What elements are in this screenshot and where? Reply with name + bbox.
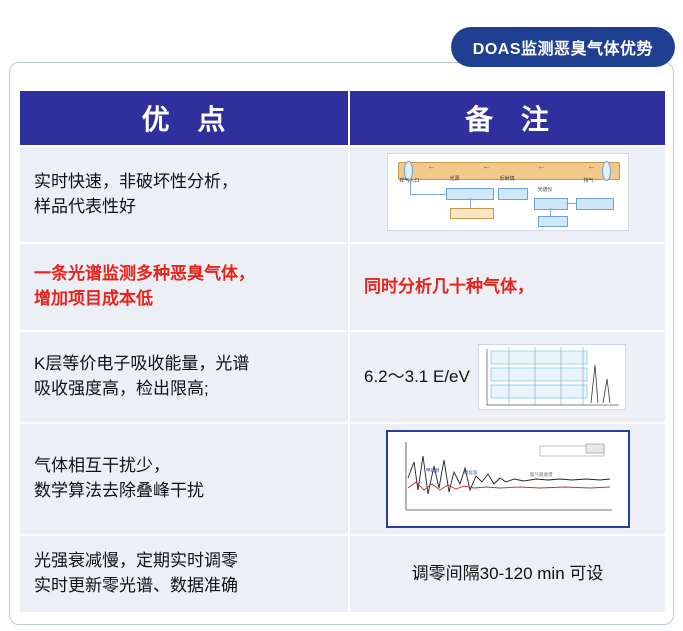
- spectra-traces-svg: [479, 345, 625, 409]
- module-box: [498, 188, 528, 200]
- svg-text:硫化氢: 硫化氢: [464, 469, 478, 476]
- module-box: [576, 198, 614, 210]
- header-advantage: 优 点: [19, 90, 349, 146]
- signal-plot: 甲硫醇 硫化氢 氨气吸收谱: [386, 430, 630, 528]
- connector-line: [566, 203, 576, 204]
- module-box: [538, 216, 568, 227]
- connector-line: [470, 198, 471, 208]
- optics-diagram: ← ← ← ←: [387, 153, 629, 231]
- advantage-text: 实时快速，非破坏性分析，样品代表性好: [34, 172, 238, 216]
- slide-title-text: DOAS监测恶臭气体优势: [473, 35, 653, 59]
- table-row: 光强衰减慢，定期实时调零实时更新零光谱、数据准确 调零间隔30-120 min …: [19, 535, 666, 613]
- table-row: 实时快速，非破坏性分析，样品代表性好 ← ← ← ←: [19, 146, 666, 243]
- header-note: 备 注: [349, 90, 666, 146]
- note-cell: 甲硫醇 硫化氢 氨气吸收谱: [349, 423, 666, 535]
- advantage-text: 气体相互干扰少，数学算法去除叠峰干扰: [34, 456, 204, 500]
- advantage-text: 光强衰减慢，定期实时调零实时更新零光谱、数据准确: [34, 551, 238, 595]
- slide-title-pill: DOAS监测恶臭气体优势: [451, 27, 675, 67]
- note-cell: 同时分析几十种气体，: [349, 243, 666, 331]
- note-cell: 6.2～3.1 E/eV: [349, 331, 666, 423]
- module-box: [534, 198, 568, 210]
- note-text: 6.2～3.1 E/eV: [364, 365, 470, 390]
- advantage-cell: K层等价电子吸收能量，光谱吸收强度高，检出限高;: [19, 331, 349, 423]
- note-cell: ← ← ← ←: [349, 146, 666, 243]
- table-row: 气体相互干扰少，数学算法去除叠峰干扰 甲硫醇: [19, 423, 666, 535]
- advantage-cell: 一条光谱监测多种恶臭气体，增加项目成本低: [19, 243, 349, 331]
- note-cell: 调零间隔30-120 min 可设: [349, 535, 666, 613]
- note-text: 同时分析几十种气体，: [364, 277, 534, 296]
- lens-icon: [602, 161, 611, 181]
- svg-text:甲硫醇: 甲硫醇: [426, 467, 440, 474]
- table-header-row: 优 点 备 注: [19, 90, 666, 146]
- table-row: 一条光谱监测多种恶臭气体，增加项目成本低 同时分析几十种气体，: [19, 243, 666, 331]
- advantage-text: K层等价电子吸收能量，光谱吸收强度高，检出限高;: [34, 354, 249, 398]
- connector-line: [550, 208, 551, 216]
- module-box: [450, 208, 494, 219]
- advantage-text: 一条光谱监测多种恶臭气体，增加项目成本低: [34, 264, 255, 308]
- advantages-table: 优 点 备 注 实时快速，非破坏性分析，样品代表性好 ← ← ← ←: [18, 89, 667, 614]
- signal-plot-svg: 甲硫醇 硫化氢 氨气吸收谱: [390, 432, 626, 522]
- advantage-cell: 气体相互干扰少，数学算法去除叠峰干扰: [19, 423, 349, 535]
- optics-diagram-figure: ← ← ← ←: [387, 218, 629, 235]
- signal-plot-figure: 甲硫醇 硫化氢 氨气吸收谱: [386, 509, 630, 526]
- note-text: 调零间隔30-120 min 可设: [412, 564, 604, 583]
- advantage-cell: 光强衰减慢，定期实时调零实时更新零光谱、数据准确: [19, 535, 349, 613]
- advantage-cell: 实时快速，非破坏性分析，样品代表性好: [19, 146, 349, 243]
- table-row: K层等价电子吸收能量，光谱吸收强度高，检出限高; 6.2～3.1 E/eV: [19, 331, 666, 423]
- svg-text:氨气吸收谱: 氨气吸收谱: [530, 471, 553, 478]
- spectra-traces-figure: [478, 344, 626, 410]
